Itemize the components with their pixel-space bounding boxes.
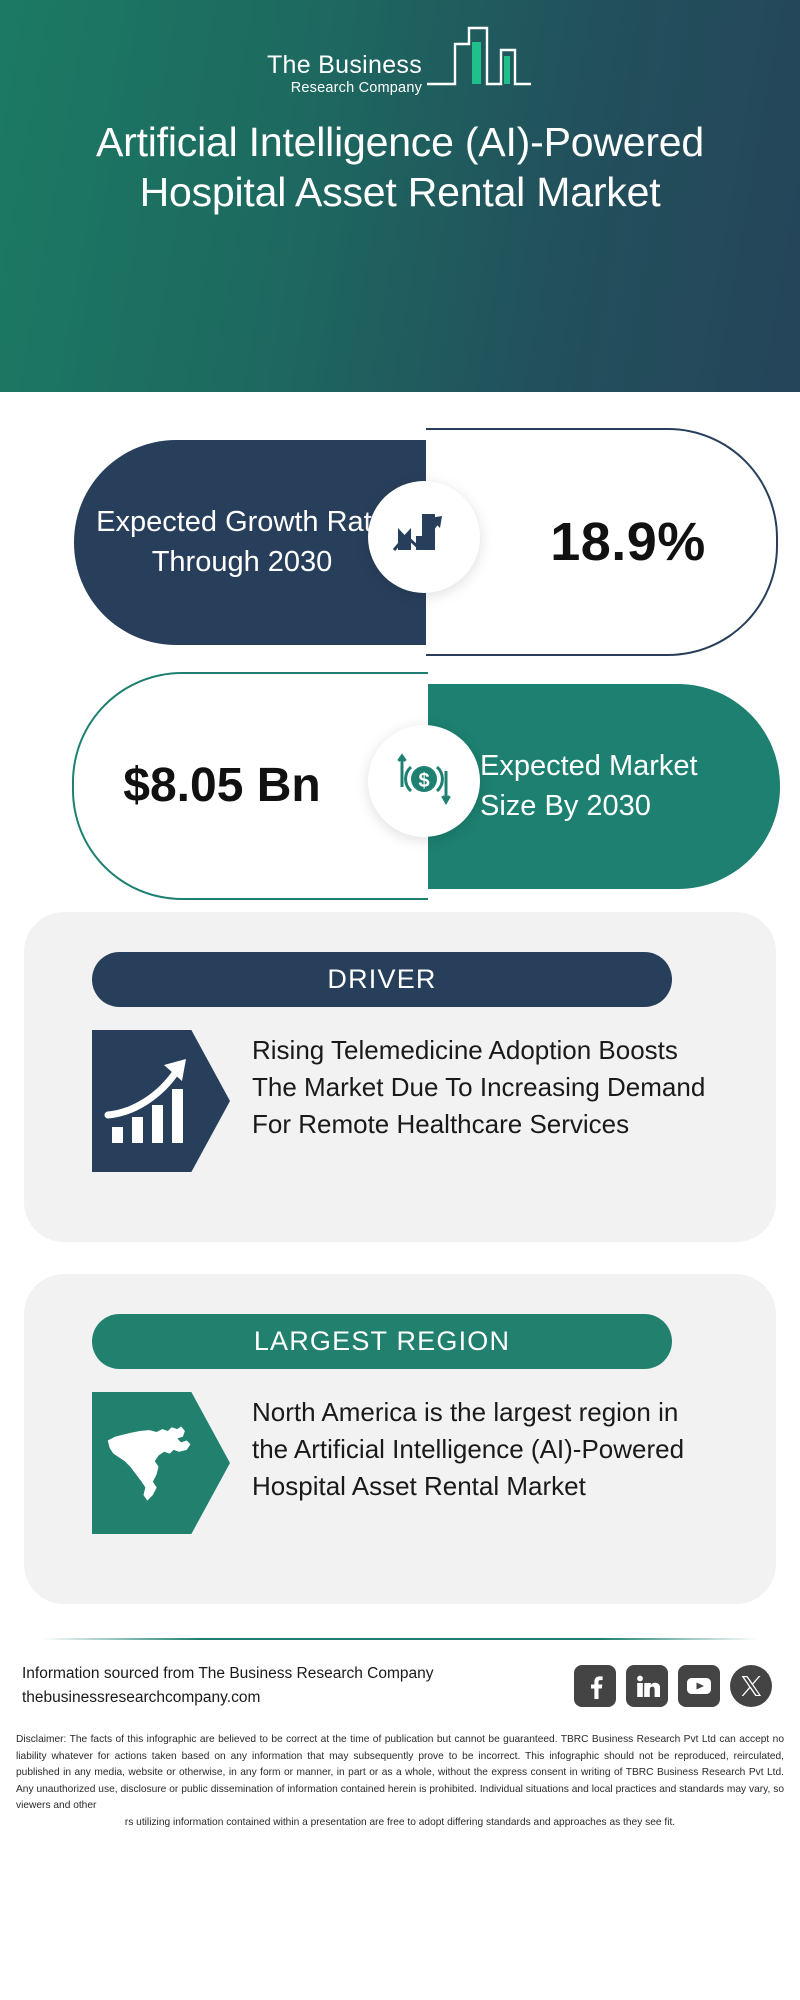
footer-source: Information sourced from The Business Re…	[22, 1662, 434, 1710]
footer: Information sourced from The Business Re…	[0, 1638, 800, 1831]
header-banner: The Business Research Company Artificial…	[0, 0, 800, 392]
largest-region-body: North America is the largest region in t…	[92, 1392, 712, 1534]
page-title: Artificial Intelligence (AI)-Powered Hos…	[0, 95, 800, 217]
x-twitter-icon[interactable]	[730, 1665, 772, 1707]
company-logo: The Business Research Company	[0, 0, 800, 95]
facebook-icon[interactable]	[574, 1665, 616, 1707]
growth-rate-value: 18.9%	[496, 511, 706, 573]
linkedin-icon[interactable]	[626, 1665, 668, 1707]
social-links	[574, 1665, 772, 1707]
largest-region-panel: LARGEST REGION North America is the larg…	[24, 1274, 776, 1604]
region-icon-hex	[92, 1392, 230, 1534]
stat-cards-band: Expected Growth Rate Through 2030 18.9% …	[0, 418, 800, 884]
largest-region-pill: LARGEST REGION	[92, 1314, 672, 1369]
largest-region-text: North America is the largest region in t…	[252, 1392, 712, 1505]
disclaimer: Disclaimer: The facts of this infographi…	[0, 1710, 800, 1831]
disclaimer-text-last: rs utilizing information contained withi…	[16, 1815, 784, 1832]
growth-bars-arrow-icon	[92, 1030, 230, 1172]
logo-line-2: Research Company	[267, 81, 422, 96]
north-america-map-icon	[92, 1392, 230, 1534]
market-size-value: $8.05 Bn	[123, 758, 378, 815]
footer-row: Information sourced from The Business Re…	[0, 1640, 800, 1710]
logo-text: The Business Research Company	[267, 53, 422, 96]
market-size-label-panel: Expected Market Size By 2030	[428, 684, 780, 889]
market-size-badge: $	[368, 725, 480, 837]
market-size-card: $8.05 Bn Expected Market Size By 2030 $	[47, 662, 753, 884]
svg-text:$: $	[418, 770, 429, 792]
growth-rate-badge	[368, 481, 480, 593]
footer-source-line-2[interactable]: thebusinessresearchcompany.com	[22, 1686, 434, 1710]
dollar-circular-arrows-icon: $	[391, 747, 457, 816]
largest-region-pill-label: LARGEST REGION	[254, 1326, 510, 1357]
growth-rate-card: Expected Growth Rate Through 2030 18.9%	[47, 418, 753, 640]
youtube-icon[interactable]	[678, 1665, 720, 1707]
bar-chart-logo-mark	[425, 22, 533, 93]
driver-text: Rising Telemedicine Adoption Boosts The …	[252, 1030, 712, 1143]
driver-body: Rising Telemedicine Adoption Boosts The …	[92, 1030, 712, 1172]
driver-panel: DRIVER Rising Telemedicine Adoption Boos…	[24, 912, 776, 1242]
market-size-label: Expected Market Size By 2030	[428, 747, 780, 825]
footer-source-line-1: Information sourced from The Business Re…	[22, 1662, 434, 1686]
bar-chart-growth-arrow-icon	[392, 506, 456, 569]
logo-line-1: The Business	[267, 53, 422, 78]
disclaimer-text: Disclaimer: The facts of this infographi…	[16, 1734, 784, 1811]
driver-icon-hex	[92, 1030, 230, 1172]
driver-pill: DRIVER	[92, 952, 672, 1007]
driver-pill-label: DRIVER	[327, 964, 436, 995]
